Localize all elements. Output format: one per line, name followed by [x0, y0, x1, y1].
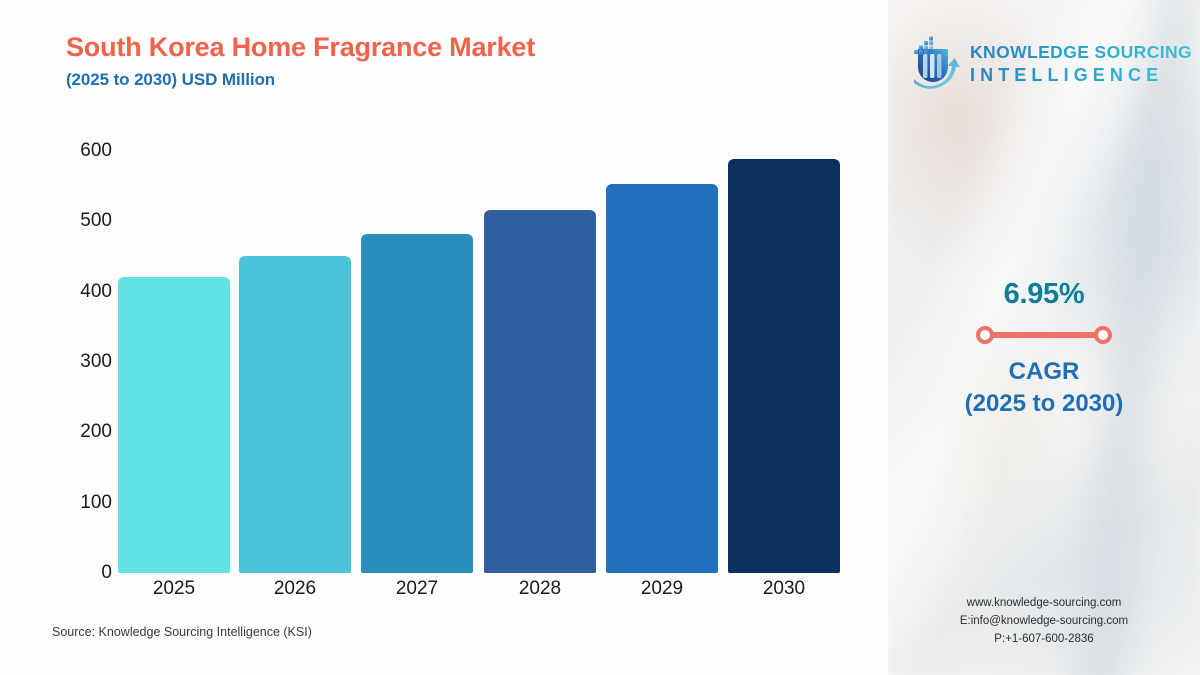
bar-group-2030: 2030	[728, 0, 840, 675]
x-axis-label-2029: 2029	[606, 578, 718, 600]
bar-group-2027: 2027	[361, 0, 473, 675]
x-axis-label-2027: 2027	[361, 578, 473, 600]
contact-website[interactable]: www.knowledge-sourcing.com	[888, 595, 1200, 613]
bar-2029[interactable]	[606, 184, 718, 573]
brand-panel: KNOWLEDGE SOURCING INTELLIGENCE 6.95% CA…	[888, 0, 1200, 675]
x-axis-label-2025: 2025	[118, 578, 230, 600]
y-axis-tick-500: 500	[52, 210, 112, 232]
bar-group-2029: 2029	[606, 0, 718, 675]
bar-2027[interactable]	[361, 234, 473, 573]
bar-group-2025: 2025	[118, 0, 230, 675]
bar-2030[interactable]	[728, 159, 840, 573]
logo-line-intelligence: INTELLIGENCE	[970, 65, 1192, 86]
bar-2026[interactable]	[239, 256, 351, 573]
contact-phone: P:+1-607-600-2836	[888, 631, 1200, 649]
y-axis: 600 500 400 300 200 100 0	[52, 0, 112, 675]
bar-group-2026: 2026	[239, 0, 351, 675]
cagr-block: 6.95% CAGR (2025 to 2030)	[888, 278, 1200, 418]
logo-text: KNOWLEDGE SOURCING INTELLIGENCE	[970, 42, 1192, 86]
cagr-dot-left-icon	[976, 326, 994, 344]
y-axis-tick-100: 100	[52, 492, 112, 514]
y-axis-tick-200: 200	[52, 421, 112, 443]
cagr-connector-graphic	[976, 326, 1112, 344]
bar-series: 2025 2026 2027 2028 2029	[118, 0, 854, 675]
cagr-value: 6.95%	[888, 278, 1200, 311]
y-axis-tick-600: 600	[52, 140, 112, 162]
contact-block: www.knowledge-sourcing.com E:info@knowle…	[888, 595, 1200, 648]
y-axis-tick-0: 0	[52, 562, 112, 584]
y-axis-tick-400: 400	[52, 281, 112, 303]
logo[interactable]: KNOWLEDGE SOURCING INTELLIGENCE	[902, 28, 1192, 100]
logo-line-knowledge-sourcing: KNOWLEDGE SOURCING	[970, 42, 1192, 63]
source-note: Source: Knowledge Sourcing Intelligence …	[52, 625, 312, 639]
x-axis-label-2028: 2028	[484, 578, 596, 600]
bar-group-2028: 2028	[484, 0, 596, 675]
chart-panel: South Korea Home Fragrance Market (2025 …	[0, 0, 888, 675]
y-axis-tick-300: 300	[52, 351, 112, 373]
cagr-connector-line	[984, 332, 1104, 338]
bar-chart-plot: 600 500 400 300 200 100 0 2025 2026	[0, 0, 888, 675]
x-axis-label-2030: 2030	[728, 578, 840, 600]
bar-2028[interactable]	[484, 210, 596, 573]
infographic-page: South Korea Home Fragrance Market (2025 …	[0, 0, 1200, 675]
bar-2025[interactable]	[118, 277, 230, 573]
ksi-logo-icon	[902, 33, 964, 95]
x-axis-label-2026: 2026	[239, 578, 351, 600]
cagr-dot-right-icon	[1094, 326, 1112, 344]
cagr-period: (2025 to 2030)	[888, 390, 1200, 418]
contact-email[interactable]: E:info@knowledge-sourcing.com	[888, 613, 1200, 631]
cagr-label: CAGR	[888, 358, 1200, 386]
brand-content: KNOWLEDGE SOURCING INTELLIGENCE 6.95% CA…	[888, 0, 1200, 675]
